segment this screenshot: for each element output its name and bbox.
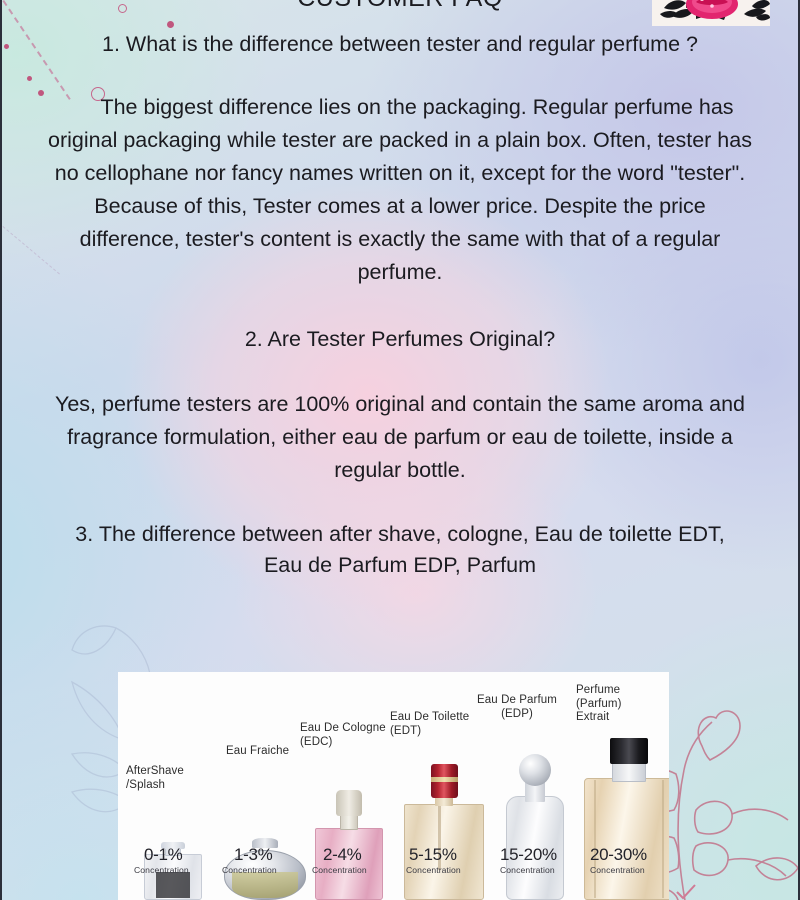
bottle-body xyxy=(584,778,669,900)
faq-answer-2: Yes, perfume testers are 100% original a… xyxy=(0,388,800,487)
faq-question-1: 1. What is the difference between tester… xyxy=(0,29,800,60)
faq-content: CUSTOMER FAQ 1. What is the difference b… xyxy=(0,0,800,581)
concentration-pct-eau-fraiche: 1-3% xyxy=(234,845,273,865)
bottle-edp xyxy=(502,754,568,900)
concentration-word-edp: Concentration xyxy=(500,865,555,875)
faq-answer-1: The biggest difference lies on the packa… xyxy=(0,91,800,289)
bottle-parfum xyxy=(584,738,669,900)
concentration-pct-edt: 5-15% xyxy=(409,845,457,865)
infographic-label-edp: Eau De Parfum (EDP) xyxy=(466,694,568,721)
bottle-edt xyxy=(404,764,484,900)
infographic-label-edc: Eau De Cologne (EDC) xyxy=(300,722,404,749)
concentration-word-parfum: Concentration xyxy=(590,865,645,875)
bottle-cap xyxy=(336,790,362,816)
check-mark-icon xyxy=(676,884,696,900)
faq-question-3: 3. The difference between after shave, c… xyxy=(0,519,800,581)
faq-poster: CUSTOMER FAQ 1. What is the difference b… xyxy=(0,0,800,900)
concentration-pct-parfum: 20-30% xyxy=(590,845,647,865)
infographic-label-aftershave: AfterShave /Splash xyxy=(126,765,212,792)
rose-floral-logo xyxy=(652,0,770,26)
faq-question-2: 2. Are Tester Perfumes Original? xyxy=(0,324,800,355)
infographic-label-parfum: Perfume (Parfum) Extrait xyxy=(576,684,660,725)
concentration-word-edt: Concentration xyxy=(406,865,461,875)
bottle-cap xyxy=(610,738,648,764)
perfume-concentration-infographic: AfterShave /Splash Eau Fraiche Eau De Co… xyxy=(118,672,669,900)
concentration-word-aftershave: Concentration xyxy=(134,865,189,875)
concentration-pct-aftershave: 0-1% xyxy=(144,845,183,865)
concentration-pct-edc: 2-4% xyxy=(323,845,362,865)
concentration-word-edc: Concentration xyxy=(312,865,367,875)
bottle-cap xyxy=(519,754,551,786)
concentration-word-eau-fraiche: Concentration xyxy=(222,865,277,875)
concentration-pct-edp: 15-20% xyxy=(500,845,557,865)
